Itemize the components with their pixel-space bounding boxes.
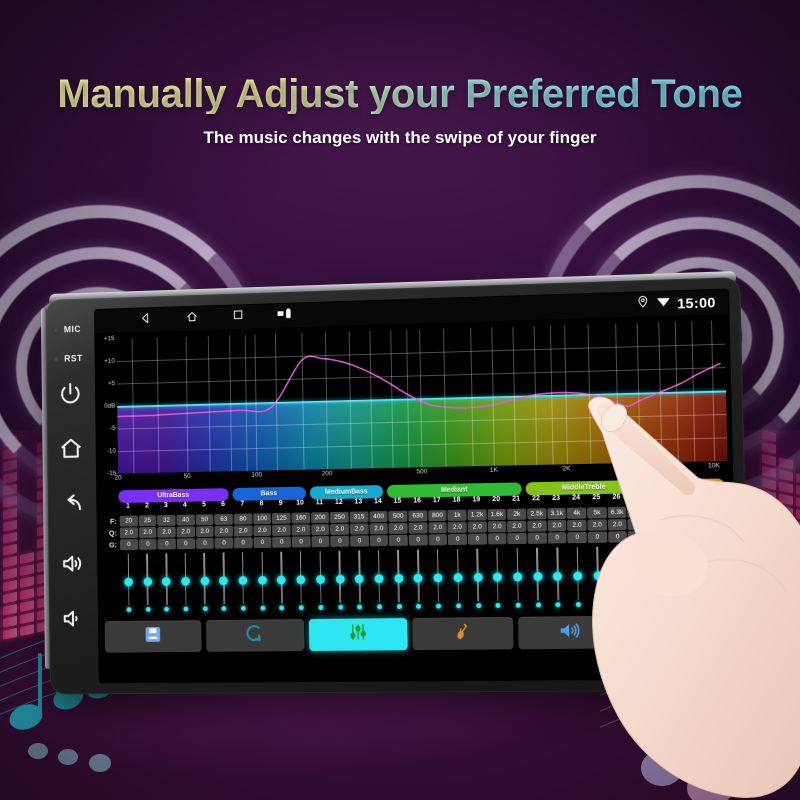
band-sliders[interactable] (119, 543, 731, 617)
parameter-cell[interactable]: 0 (710, 530, 730, 542)
q-factor-row-label: Q: (102, 529, 120, 538)
slider-end-dot[interactable] (126, 607, 131, 612)
save-button[interactable] (105, 620, 202, 653)
slider-thumb[interactable] (124, 578, 133, 587)
parameter-cell[interactable]: 2.0 (196, 526, 214, 537)
parameter-cell[interactable]: 2k (507, 509, 526, 520)
parameter-cell[interactable]: 2.0 (668, 518, 688, 530)
band-slider[interactable] (214, 550, 233, 616)
slider-end-dot[interactable] (377, 604, 382, 609)
slider-thumb[interactable] (695, 570, 705, 579)
clock-label: 15:00 (677, 294, 716, 311)
parameter-cell[interactable]: 2.5k (527, 508, 546, 519)
parameter-cell[interactable]: 800 (428, 510, 447, 521)
slider-end-dot[interactable] (536, 602, 541, 607)
slider-thumb[interactable] (573, 571, 582, 580)
parameter-cell[interactable]: 0 (292, 536, 311, 547)
parameter-cell[interactable]: 8k (628, 506, 647, 518)
band-number: 17 (433, 497, 441, 504)
slider-end-dot[interactable] (397, 604, 402, 609)
parameter-cell[interactable]: 0 (139, 539, 157, 550)
parameter-cell[interactable]: 63 (215, 514, 233, 525)
band-number: 13 (354, 498, 362, 505)
slider-thumb[interactable] (143, 577, 152, 586)
x-axis-tick: 10K (708, 462, 720, 469)
slider-thumb[interactable] (654, 570, 664, 579)
parameter-cell[interactable]: 2.0 (120, 527, 138, 538)
parameter-cell[interactable]: 2.0 (488, 521, 507, 532)
band-number: 8 (260, 500, 264, 507)
slider-end-dot[interactable] (436, 604, 441, 609)
home-icon[interactable] (58, 435, 85, 463)
parameter-cell[interactable]: 2.0 (369, 523, 388, 534)
parameter-cell[interactable]: 2.0 (272, 525, 290, 536)
band-slider[interactable] (350, 548, 370, 614)
slider-thumb[interactable] (355, 574, 364, 583)
parameter-cell[interactable]: 2.0 (588, 519, 607, 530)
band-slider[interactable] (548, 545, 568, 612)
parameter-cell[interactable]: 2.0 (292, 524, 311, 535)
parameter-cell[interactable]: 0 (215, 538, 233, 549)
slider-end-dot[interactable] (416, 604, 421, 609)
reset-indicator[interactable]: RST (46, 353, 96, 364)
band-number: 28 (653, 493, 661, 500)
parameter-cell[interactable]: 2.0 (253, 525, 271, 536)
parameter-cell[interactable]: 2.0 (409, 522, 428, 533)
parameter-cell[interactable]: 2.0 (507, 521, 526, 532)
band-number: 30 (694, 492, 702, 499)
volume-down-icon[interactable] (60, 606, 87, 634)
parameter-cell[interactable]: 0 (488, 533, 507, 544)
reset-label: RST (64, 353, 83, 363)
band-number: 4 (183, 502, 187, 509)
y-axis-tick: -5 (110, 425, 116, 432)
band-number: 22 (532, 495, 540, 502)
parameter-cell[interactable]: 0 (428, 534, 447, 545)
band-number: 5 (202, 501, 206, 508)
band-slider[interactable] (119, 552, 138, 617)
mic-dot-icon (53, 327, 58, 332)
page-title: Manually Adjust your Preferred Tone (0, 74, 800, 114)
band-slider[interactable] (138, 552, 157, 617)
premium-button[interactable] (625, 615, 729, 649)
parameter-cell[interactable]: 40 (176, 514, 194, 525)
y-axis-tick: +10 (104, 358, 115, 365)
band-slider[interactable] (448, 547, 468, 614)
band-slider[interactable] (568, 545, 588, 612)
slider-end-dot[interactable] (476, 603, 481, 608)
parameter-cell[interactable]: 2.0 (547, 520, 566, 531)
parameter-cell[interactable]: 2.0 (448, 522, 467, 533)
parameter-cell[interactable]: 0 (409, 534, 428, 545)
parameter-cell[interactable]: 2.0 (527, 520, 546, 531)
band-slider[interactable] (628, 544, 649, 612)
bottom-toolbar[interactable] (105, 615, 730, 653)
band-slider[interactable] (649, 544, 670, 612)
band-number: 24 (572, 494, 580, 501)
slider-end-dot[interactable] (718, 600, 723, 605)
slider-thumb[interactable] (453, 573, 462, 582)
band-slider[interactable] (710, 543, 731, 611)
band-number: 2 (145, 502, 149, 509)
parameter-cell[interactable]: 2.0 (689, 518, 709, 530)
x-axis-tick: 500 (416, 468, 427, 475)
band-slider[interactable] (389, 548, 409, 614)
parameter-cell[interactable]: 2.0 (709, 517, 729, 529)
band-slider[interactable] (195, 551, 214, 617)
slider-thumb[interactable] (374, 574, 383, 583)
wifi-icon (655, 294, 671, 313)
parameter-cell[interactable]: 1.6k (487, 509, 506, 520)
slider-thumb[interactable] (493, 573, 502, 582)
reset-dot-icon (54, 356, 59, 361)
parameter-cell[interactable]: 0 (389, 535, 408, 546)
parameter-cell[interactable]: 50 (195, 514, 213, 525)
parameter-cell[interactable]: 315 (350, 511, 369, 522)
frequency-row-label: F: (101, 517, 119, 526)
parameter-cell[interactable]: 0 (253, 537, 271, 548)
y-axis-tick: +5 (108, 380, 115, 387)
parameter-cell[interactable]: 200 (311, 512, 330, 523)
x-axis-tick: 100 (251, 472, 262, 479)
parameter-cell[interactable]: 0 (448, 534, 467, 545)
parameter-cell[interactable]: 125 (272, 513, 290, 524)
band-number: 16 (413, 497, 421, 504)
parameter-cell[interactable]: 2.0 (389, 523, 408, 534)
graph-y-axis: +15+10+50dB-5-10-15 (95, 333, 118, 490)
parameter-cell[interactable]: 32 (157, 515, 175, 526)
band-number: 20 (492, 496, 500, 503)
parameter-cell[interactable]: 25 (139, 515, 157, 526)
violin-icon (453, 621, 474, 646)
parameter-cell[interactable]: 500 (389, 511, 408, 522)
slider-thumb[interactable] (219, 576, 228, 585)
parameter-cell[interactable]: 0 (370, 535, 389, 546)
screenshot-stage: Manually Adjust your Preferred Tone The … (0, 0, 800, 800)
battery-icon (277, 306, 297, 324)
band-slider[interactable] (428, 547, 448, 614)
band-slider[interactable] (369, 548, 389, 614)
slider-end-dot[interactable] (357, 604, 362, 609)
band-number: 15 (394, 498, 402, 505)
band-slider[interactable] (408, 547, 428, 614)
parameter-cell[interactable]: 0 (648, 530, 668, 542)
parameter-cell[interactable]: 2.0 (215, 526, 233, 537)
mic-indicator: MIC (46, 324, 96, 335)
slider-end-dot[interactable] (338, 605, 343, 610)
eq-response-graph[interactable]: +15+10+50dB-5-10-15 20501002005001K2K5K1… (95, 314, 732, 490)
parameter-cell[interactable]: 630 (408, 510, 427, 521)
band-slider[interactable] (669, 543, 690, 611)
parameter-cell[interactable]: 2.0 (177, 526, 195, 537)
band-slider[interactable] (311, 549, 331, 615)
band-slider[interactable] (176, 551, 195, 616)
band-number: 7 (240, 501, 244, 508)
slider-thumb[interactable] (553, 572, 562, 581)
parameter-cell[interactable]: 1k (448, 510, 467, 521)
undo-arrow-icon (244, 623, 265, 649)
x-axis-tick: 1K (490, 467, 498, 474)
slider-end-dot[interactable] (556, 602, 561, 607)
parameter-cell[interactable]: 2.0 (628, 519, 647, 531)
parameter-cell[interactable]: 2.0 (608, 519, 627, 531)
band-slider[interactable] (233, 550, 252, 616)
band-slider[interactable] (528, 546, 548, 613)
parameter-cell[interactable]: 0 (508, 533, 527, 544)
parameter-cell[interactable]: 0 (548, 532, 567, 543)
parameter-cell[interactable]: 20k (709, 505, 729, 517)
parameter-cell[interactable]: 0 (120, 539, 138, 550)
slider-end-dot[interactable] (260, 606, 265, 611)
parameter-cell[interactable]: 0 (588, 531, 607, 542)
parameter-cell[interactable]: 100 (253, 513, 271, 524)
x-axis-tick: 20 (115, 475, 122, 482)
slider-thumb[interactable] (675, 570, 685, 579)
power-icon[interactable] (58, 381, 85, 409)
slider-end-dot[interactable] (698, 601, 703, 606)
slider-thumb[interactable] (414, 574, 423, 583)
slider-thumb[interactable] (239, 576, 248, 585)
slider-end-dot[interactable] (241, 606, 246, 611)
parameter-cell[interactable]: 20 (120, 515, 138, 526)
parameter-cell[interactable]: 0 (468, 533, 487, 544)
slider-end-dot[interactable] (516, 603, 521, 608)
crown-icon (666, 618, 688, 645)
slider-thumb[interactable] (258, 576, 267, 585)
slider-thumb[interactable] (297, 575, 306, 584)
parameter-cell[interactable]: 1.2k (468, 509, 487, 520)
slider-end-dot[interactable] (576, 602, 581, 607)
parameter-cell[interactable]: 2.0 (350, 523, 369, 534)
slider-end-dot[interactable] (677, 601, 682, 606)
slider-thumb[interactable] (394, 574, 403, 583)
parameter-cell[interactable]: 4k (567, 507, 586, 518)
y-axis-tick: 0dB (104, 403, 115, 410)
band-number: 23 (552, 495, 560, 502)
band-number: 31 (714, 492, 722, 499)
band-slider[interactable] (488, 546, 508, 613)
slider-thumb[interactable] (335, 575, 344, 584)
gain-row-label: G: (102, 540, 120, 549)
device-screen: 15:00 +15+10+50dB-5-10-15 20501002005001… (95, 290, 737, 683)
parameter-cell[interactable]: 160 (291, 512, 310, 523)
band-number: 12 (335, 499, 343, 506)
parameter-cell[interactable]: 3.1k (547, 508, 566, 519)
mic-label: MIC (64, 324, 81, 334)
android-nav-buttons (139, 306, 297, 330)
band-slider[interactable] (468, 547, 488, 614)
parameter-cell[interactable]: 0 (528, 532, 547, 543)
parameter-cell[interactable]: 5k (587, 507, 606, 518)
band-slider[interactable] (272, 550, 291, 616)
parameter-cell[interactable]: 0 (689, 530, 709, 542)
y-axis-tick: +15 (104, 335, 115, 342)
slider-end-dot[interactable] (203, 606, 208, 611)
equalizer-button[interactable] (309, 618, 409, 651)
band-number: 3 (164, 502, 168, 509)
band-number: 27 (633, 493, 641, 500)
parameter-cell[interactable]: 2.0 (468, 521, 487, 532)
slider-end-dot[interactable] (596, 602, 601, 607)
slider-end-dot[interactable] (164, 607, 169, 612)
band-number: 9 (279, 500, 283, 507)
parameter-cell[interactable]: 16k (689, 505, 709, 517)
parameter-cell[interactable]: 0 (628, 531, 647, 543)
parameter-cell[interactable]: 2.0 (567, 520, 586, 531)
parameter-cell[interactable]: 10k (648, 506, 668, 518)
nav-recents-icon[interactable] (232, 308, 245, 326)
x-axis-tick: 200 (322, 470, 333, 477)
car-stereo-device: MIC RST (45, 277, 749, 694)
volume-up-icon[interactable] (60, 551, 87, 579)
parameter-cell[interactable]: 0 (234, 537, 252, 548)
slider-thumb[interactable] (434, 573, 443, 582)
slider-thumb[interactable] (181, 577, 190, 586)
floppy-disk-icon (143, 624, 163, 649)
back-icon[interactable] (59, 490, 86, 518)
band-slider[interactable] (157, 551, 176, 616)
band-slider[interactable] (330, 549, 350, 615)
slider-end-dot[interactable] (616, 602, 621, 607)
slider-end-dot[interactable] (183, 606, 188, 611)
nav-back-icon[interactable] (139, 311, 153, 330)
x-axis-tick: 50 (184, 473, 191, 480)
slider-thumb[interactable] (513, 572, 522, 581)
slider-end-dot[interactable] (222, 606, 227, 611)
parameter-cell[interactable]: 0 (177, 538, 195, 549)
x-axis-tick: 5K (636, 464, 644, 471)
parameter-cell[interactable]: 0 (331, 536, 350, 547)
parameter-cell[interactable]: 0 (196, 538, 214, 549)
graph-plot-area[interactable] (116, 320, 727, 473)
slider-end-dot[interactable] (636, 601, 641, 606)
band-slider[interactable] (253, 550, 272, 616)
parameter-cell[interactable]: 400 (369, 511, 388, 522)
band-slider[interactable] (608, 544, 629, 611)
band-number: 6 (221, 501, 225, 508)
parameter-cell[interactable]: 12.5k (668, 506, 688, 518)
slider-thumb[interactable] (200, 577, 209, 586)
band-number: 11 (316, 499, 323, 506)
parameter-cell[interactable]: 6.3k (607, 507, 626, 519)
speaker-icon (558, 619, 581, 647)
slider-thumb[interactable] (593, 571, 602, 580)
parameter-cell[interactable]: 0 (158, 538, 176, 549)
slider-thumb[interactable] (634, 571, 643, 580)
nav-home-icon[interactable] (185, 309, 199, 328)
parameter-cell[interactable]: 250 (330, 512, 349, 523)
slider-end-dot[interactable] (318, 605, 323, 610)
band-number: 19 (472, 496, 480, 503)
status-bar-right: 15:00 (636, 293, 716, 314)
slider-thumb[interactable] (316, 575, 325, 584)
parameter-cell[interactable]: 2.0 (330, 524, 349, 535)
band-number: 29 (673, 493, 681, 500)
band-slider[interactable] (689, 543, 710, 611)
reset-button[interactable] (206, 619, 304, 652)
band-number: 1 (126, 503, 130, 510)
parameter-cell[interactable]: 0 (273, 537, 291, 548)
band-number: 21 (512, 496, 520, 503)
slider-end-dot[interactable] (280, 605, 285, 610)
parameter-cell[interactable]: 0 (669, 530, 689, 542)
slider-end-dot[interactable] (456, 603, 461, 608)
band-slider[interactable] (291, 549, 310, 615)
parameter-cell[interactable]: 2.0 (234, 525, 252, 536)
parameter-cell[interactable]: 2.0 (428, 522, 447, 533)
band-number: 10 (296, 500, 304, 507)
device-bezel-left: MIC RST (45, 298, 99, 694)
page-subtitle: The music changes with the swipe of your… (0, 128, 800, 148)
slider-end-dot[interactable] (657, 601, 662, 606)
parameter-cell[interactable]: 2.0 (139, 527, 157, 538)
parameter-cell[interactable]: 80 (234, 513, 252, 524)
parameter-cell[interactable]: 0 (568, 532, 587, 543)
slider-thumb[interactable] (162, 577, 171, 586)
parameter-cell[interactable]: 2.0 (311, 524, 330, 535)
parameter-cell[interactable]: 2.0 (648, 518, 668, 530)
parameter-cell[interactable]: 2.0 (158, 527, 176, 538)
volume-button[interactable] (518, 616, 621, 649)
band-slider[interactable] (588, 545, 609, 612)
slider-thumb[interactable] (533, 572, 542, 581)
slider-thumb[interactable] (277, 575, 286, 584)
parameter-cell[interactable]: 0 (311, 536, 330, 547)
parameter-cell[interactable]: 0 (608, 531, 627, 542)
slider-end-dot[interactable] (496, 603, 501, 608)
slider-thumb[interactable] (715, 570, 725, 579)
x-axis-tick: 2K (562, 465, 570, 472)
slider-end-dot[interactable] (299, 605, 304, 610)
slider-thumb[interactable] (473, 573, 482, 582)
location-pin-icon (636, 295, 650, 314)
band-number: 14 (374, 498, 382, 505)
y-axis-tick: -10 (107, 448, 116, 455)
instrument-button[interactable] (413, 617, 514, 650)
slider-thumb[interactable] (614, 571, 623, 580)
parameter-cell[interactable]: 0 (350, 535, 369, 546)
band-number: 18 (453, 497, 461, 504)
slider-end-dot[interactable] (145, 607, 150, 612)
band-slider[interactable] (508, 546, 528, 613)
band-number: 26 (612, 494, 620, 501)
equalizer-icon (348, 621, 369, 647)
band-number: 25 (592, 494, 600, 501)
